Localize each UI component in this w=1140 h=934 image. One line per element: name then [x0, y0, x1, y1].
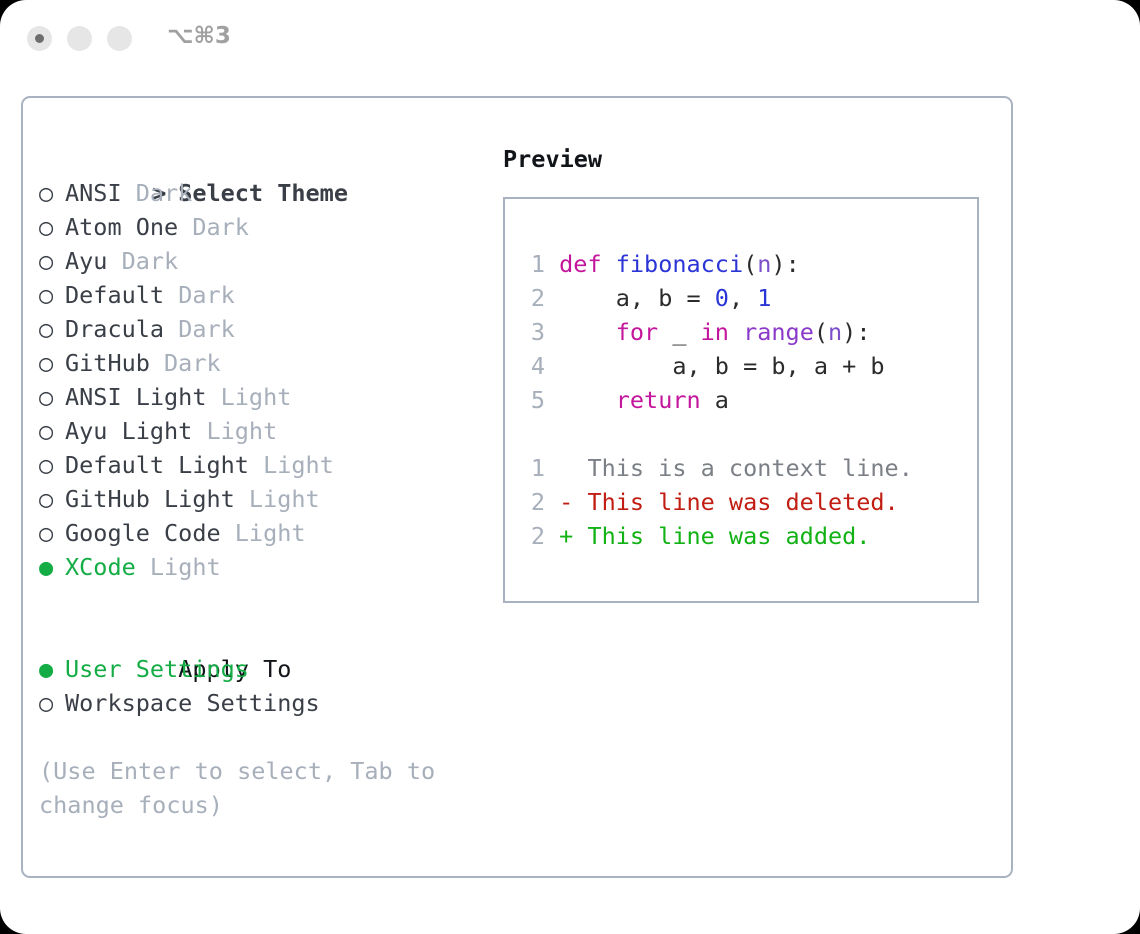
apply-to-option-workspace-settings[interactable]: ○Workspace Settings: [39, 686, 469, 720]
list-spacer: [39, 584, 469, 618]
diff-line-number: 2: [519, 485, 545, 519]
code-line-content: [545, 250, 559, 278]
code-token: [559, 318, 616, 346]
radio-unselected-icon: ○: [39, 380, 65, 414]
theme-variant-badge: Dark: [164, 315, 235, 343]
traffic-light-close[interactable]: [27, 26, 52, 51]
code-line-number: 3: [519, 315, 545, 349]
radio-unselected-icon: ○: [39, 448, 65, 482]
code-line-number: 2: [519, 281, 545, 315]
code-token: ):: [771, 250, 799, 278]
theme-variant-badge: Light: [136, 553, 221, 581]
code-token: _: [658, 318, 700, 346]
select-theme-title: Select Theme: [178, 179, 348, 207]
code-line-number: 4: [519, 349, 545, 383]
radio-unselected-icon: ○: [39, 312, 65, 346]
code-token: return: [616, 386, 701, 414]
theme-selector-column: >Select Theme ○ANSI Dark○Atom One Dark○A…: [39, 142, 469, 822]
keyboard-shortcut-label: ⌥⌘3: [167, 23, 231, 49]
code-token: (: [814, 318, 828, 346]
theme-variant-badge: Dark: [164, 281, 235, 309]
theme-variant-badge: Dark: [107, 247, 178, 275]
diff-line-text: This line was added.: [573, 522, 870, 550]
diff-line-number: 1: [519, 451, 545, 485]
code-line: 3 for _ in range(n):: [519, 315, 969, 349]
code-token: [602, 250, 616, 278]
theme-option-label: GitHub Light: [65, 485, 235, 513]
theme-option-label: Default Light: [65, 451, 249, 479]
radio-unselected-icon: ○: [39, 516, 65, 550]
theme-option-dracula[interactable]: ○Dracula Dark: [39, 312, 469, 346]
code-token: a, b =: [559, 284, 715, 312]
diff-line-context: 1 This is a context line.: [519, 451, 969, 485]
code-line: 1 def fibonacci(n):: [519, 247, 969, 281]
code-token: def: [559, 250, 601, 278]
code-line: 4 a, b = b, a + b: [519, 349, 969, 383]
code-token: (: [743, 250, 757, 278]
diff-line-text: This is a context line.: [573, 454, 913, 482]
help-text: (Use Enter to select, Tab to change focu…: [39, 754, 459, 822]
code-token: for: [616, 318, 658, 346]
radio-unselected-icon: ○: [39, 244, 65, 278]
theme-variant-badge: Light: [221, 519, 306, 547]
apply-to-option-label: Workspace Settings: [65, 689, 320, 717]
traffic-light-minimize[interactable]: [67, 26, 92, 51]
theme-option-label: Ayu: [65, 247, 107, 275]
preview-column: Preview 1 def fibonacci(n):2 a, b = 0, 1…: [503, 142, 993, 603]
code-token: [729, 318, 743, 346]
code-token: in: [701, 318, 729, 346]
code-token: a: [701, 386, 729, 414]
theme-option-label: ANSI Light: [65, 383, 206, 411]
app-window: ⌥⌘3 >Select Theme ○ANSI Dark○Atom One Da…: [0, 0, 1140, 934]
theme-option-label: ANSI: [65, 179, 122, 207]
code-token: ):: [842, 318, 870, 346]
theme-option-label: Default: [65, 281, 164, 309]
theme-option-label: Atom One: [65, 213, 178, 241]
radio-unselected-icon: ○: [39, 346, 65, 380]
radio-unselected-icon: ○: [39, 414, 65, 448]
code-token: ,: [729, 284, 757, 312]
code-token: fibonacci: [616, 250, 743, 278]
theme-option-google-code[interactable]: ○Google Code Light: [39, 516, 469, 550]
code-token: a, b = b, a + b: [559, 352, 884, 380]
radio-unselected-icon: ○: [39, 278, 65, 312]
select-theme-header: >Select Theme: [39, 142, 469, 176]
theme-option-github[interactable]: ○GitHub Dark: [39, 346, 469, 380]
radio-unselected-icon: ○: [39, 686, 65, 720]
code-line-content: [545, 284, 559, 312]
code-token: 0: [715, 284, 729, 312]
code-token: n: [757, 250, 771, 278]
radio-unselected-icon: ○: [39, 210, 65, 244]
theme-option-github-light[interactable]: ○GitHub Light Light: [39, 482, 469, 516]
preview-section-gap: [519, 417, 969, 451]
radio-selected-icon: ●: [39, 652, 65, 686]
theme-option-label: XCode: [65, 553, 136, 581]
diff-line-text: This line was deleted.: [573, 488, 898, 516]
theme-option-label: Google Code: [65, 519, 221, 547]
apply-to-option-label: User Settings: [65, 655, 249, 683]
diff-marker-icon: -: [545, 488, 573, 516]
radio-unselected-icon: ○: [39, 482, 65, 516]
theme-variant-badge: Light: [192, 417, 277, 445]
code-line: 2 a, b = 0, 1: [519, 281, 969, 315]
theme-option-ansi-light[interactable]: ○ANSI Light Light: [39, 380, 469, 414]
code-line-number: 1: [519, 247, 545, 281]
theme-variant-badge: Light: [235, 485, 320, 513]
theme-option-default[interactable]: ○Default Dark: [39, 278, 469, 312]
code-token: [559, 386, 616, 414]
traffic-light-maximize[interactable]: [107, 26, 132, 51]
radio-unselected-icon: ○: [39, 176, 65, 210]
code-preview-area: 1 def fibonacci(n):2 a, b = 0, 13 for _ …: [519, 247, 969, 553]
code-token: 1: [757, 284, 771, 312]
theme-option-label: GitHub: [65, 349, 150, 377]
theme-option-label: Dracula: [65, 315, 164, 343]
code-line-number: 5: [519, 383, 545, 417]
main-panel: >Select Theme ○ANSI Dark○Atom One Dark○A…: [21, 96, 1013, 878]
code-line-content: [545, 352, 559, 380]
theme-option-atom-one[interactable]: ○Atom One Dark: [39, 210, 469, 244]
code-line-content: [545, 318, 559, 346]
code-token: range: [743, 318, 814, 346]
theme-variant-badge: Light: [249, 451, 334, 479]
theme-list: ○ANSI Dark○Atom One Dark○Ayu Dark○Defaul…: [39, 176, 469, 584]
code-line: 5 return a: [519, 383, 969, 417]
preview-box: 1 def fibonacci(n):2 a, b = 0, 13 for _ …: [503, 197, 979, 603]
apply-to-section-header: Apply To: [39, 618, 469, 652]
diff-marker-icon: +: [545, 522, 573, 550]
theme-option-xcode[interactable]: ●XCode Light: [39, 550, 469, 584]
code-line-content: [545, 386, 559, 414]
theme-option-default-light[interactable]: ○Default Light Light: [39, 448, 469, 482]
diff-marker-icon: [545, 454, 573, 482]
radio-selected-icon: ●: [39, 550, 65, 584]
theme-option-label: Ayu Light: [65, 417, 192, 445]
preview-title: Preview: [503, 142, 993, 176]
diff-line-deleted: 2 - This line was deleted.: [519, 485, 969, 519]
code-token: n: [828, 318, 842, 346]
diff-line-added: 2 + This line was added.: [519, 519, 969, 553]
active-indicator-icon: [35, 34, 44, 43]
theme-option-ayu[interactable]: ○Ayu Dark: [39, 244, 469, 278]
title-bar: ⌥⌘3: [0, 0, 1140, 78]
theme-variant-badge: Dark: [150, 349, 221, 377]
theme-variant-badge: Light: [206, 383, 291, 411]
theme-variant-badge: Dark: [122, 179, 193, 207]
diff-line-number: 2: [519, 519, 545, 553]
theme-option-ayu-light[interactable]: ○Ayu Light Light: [39, 414, 469, 448]
theme-variant-badge: Dark: [178, 213, 249, 241]
